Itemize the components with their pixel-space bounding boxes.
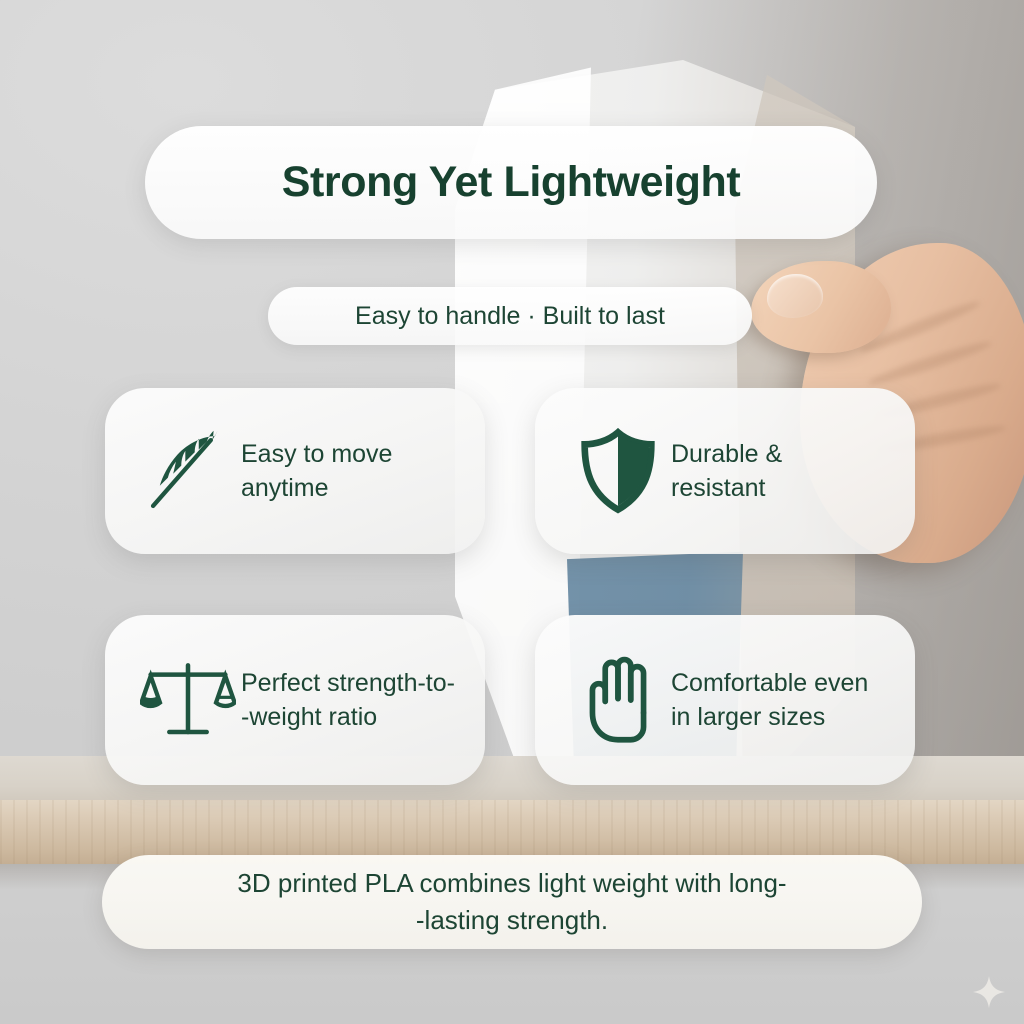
shield-icon (569, 428, 667, 514)
feature-line-1: Easy to move (241, 440, 392, 468)
balance-scale-icon (139, 657, 237, 743)
feature-line-1: Durable & (671, 440, 782, 468)
page-subtitle: Easy to handle · Built to last (355, 302, 665, 331)
sparkle-icon (972, 975, 1006, 1009)
caption-pill: 3D printed PLA combines light weight wit… (102, 855, 922, 949)
feather-icon (139, 428, 237, 514)
infographic-stage: Strong Yet Lightweight Easy to handle · … (0, 0, 1024, 1024)
feature-line-2: resistant (671, 474, 765, 502)
feature-card-label: Comfortable even in larger sizes (671, 666, 868, 735)
feature-card-label: Durable & resistant (671, 437, 782, 506)
feature-line-1: Perfect strength-to- (241, 669, 455, 697)
subtitle-pill: Easy to handle · Built to last (268, 287, 752, 345)
caption-line-2: -lasting strength. (416, 902, 608, 939)
feature-line-2: in larger sizes (671, 703, 825, 731)
feature-card-comfortable[interactable]: Comfortable even in larger sizes (535, 615, 915, 785)
feature-card-label: Easy to move anytime (241, 437, 392, 506)
feature-card-durable[interactable]: Durable & resistant (535, 388, 915, 554)
feature-line-2: anytime (241, 474, 329, 502)
feature-line-1: Comfortable even (671, 669, 868, 697)
page-title: Strong Yet Lightweight (282, 158, 741, 207)
caption-line-1: 3D printed PLA combines light weight wit… (237, 865, 786, 902)
feature-card-easy-to-move[interactable]: Easy to move anytime (105, 388, 485, 554)
feature-line-2: -weight ratio (241, 703, 377, 731)
feature-card-label: Perfect strength-to- -weight ratio (241, 666, 455, 735)
thumbnail (767, 274, 823, 318)
hand-icon (569, 656, 667, 744)
feature-card-strength-ratio[interactable]: Perfect strength-to- -weight ratio (105, 615, 485, 785)
title-pill: Strong Yet Lightweight (145, 126, 877, 239)
